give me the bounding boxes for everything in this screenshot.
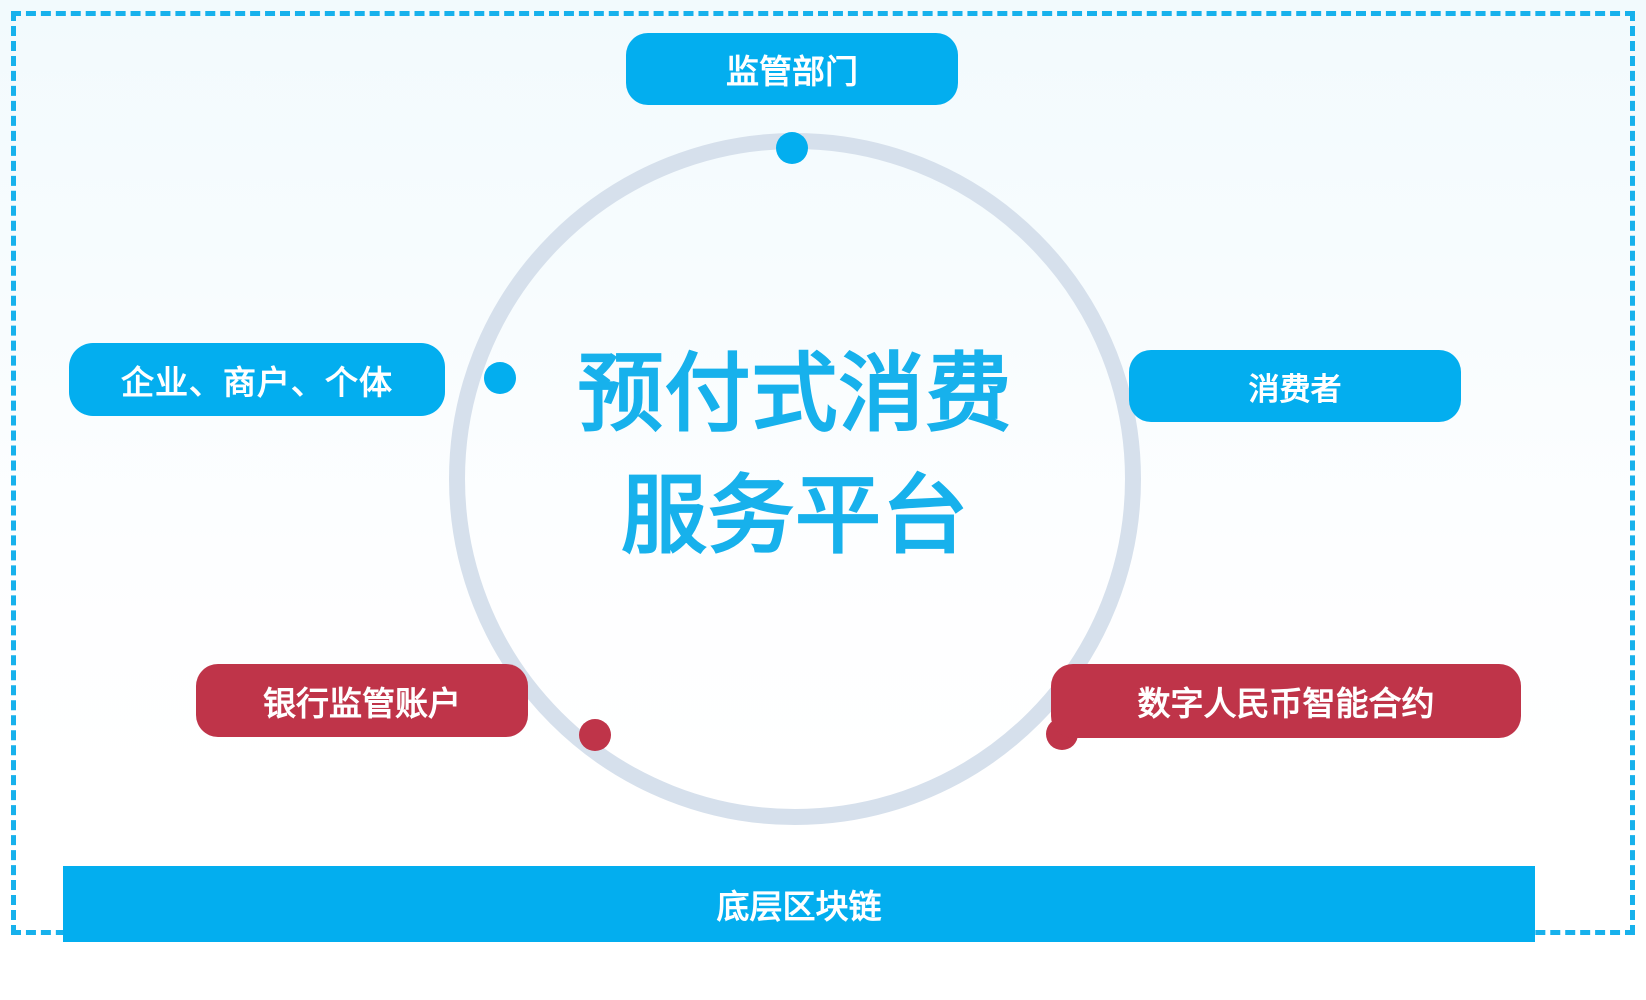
node-regulator[interactable]: 监管部门: [626, 33, 958, 105]
node-consumer-label: 消费者: [1249, 364, 1342, 409]
node-bank-account-label: 银行监管账户: [263, 677, 461, 725]
node-consumer[interactable]: 消费者: [1129, 350, 1461, 422]
node-smart-contract-label: 数字人民币智能合约: [1138, 677, 1435, 725]
foundation-blockchain-label: 底层区块链: [717, 880, 882, 928]
foundation-blockchain-bar[interactable]: 底层区块链: [63, 866, 1535, 942]
node-smart-contract[interactable]: 数字人民币智能合约: [1051, 664, 1521, 738]
node-enterprise-label: 企业、商户、个体: [121, 356, 393, 404]
node-regulator-label: 监管部门: [726, 45, 858, 93]
node-dot-bank-account: [579, 719, 611, 751]
diagram-canvas: 预付式消费 服务平台 监管部门 企业、商户、个体 消费者 银行监管账户 数字人民…: [0, 0, 1646, 1000]
node-dot-regulator: [776, 132, 808, 164]
node-bank-account[interactable]: 银行监管账户: [196, 664, 528, 737]
node-enterprise[interactable]: 企业、商户、个体: [69, 343, 445, 416]
node-dot-enterprise: [484, 362, 516, 394]
center-platform-title: 预付式消费 服务平台: [530, 333, 1060, 577]
